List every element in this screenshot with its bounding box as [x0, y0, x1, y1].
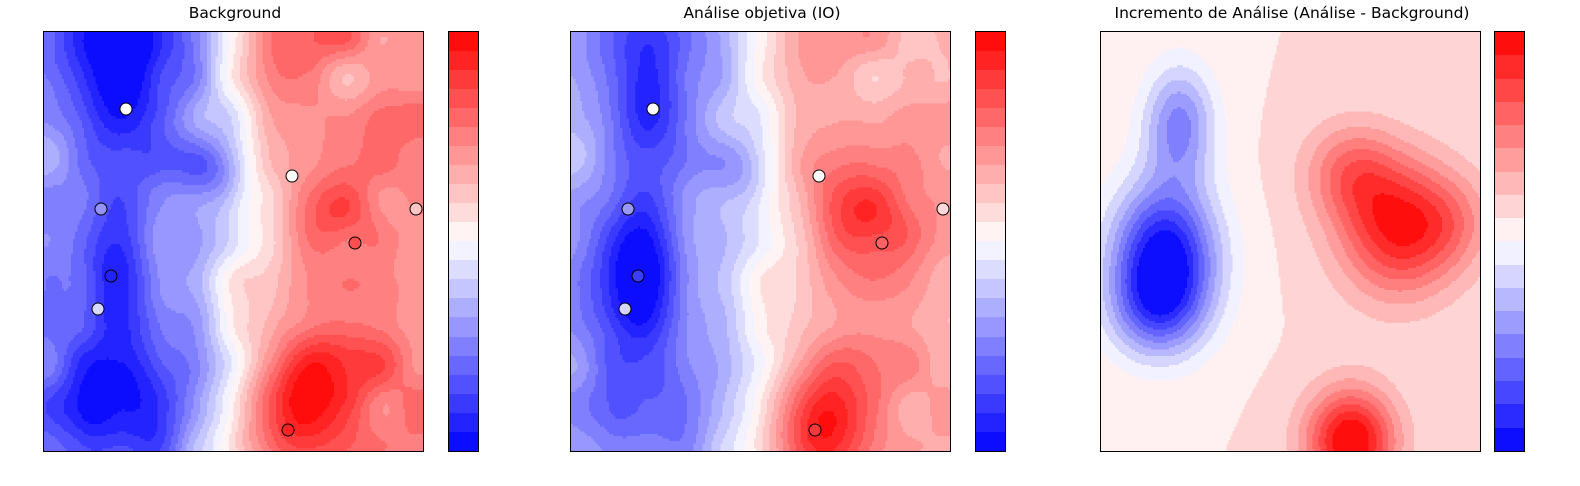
observation-marker: [285, 169, 298, 182]
colorbar-tick-mark: [1005, 185, 1006, 186]
colorbar-tick-mark: [1524, 406, 1525, 407]
ytick-mark: [43, 442, 44, 443]
colorbar-tick-mark: [1524, 125, 1525, 126]
colorbar-tick-mark: [1005, 72, 1006, 73]
xtick-mark: [1351, 451, 1352, 452]
colorbar-tick-mark: [1524, 78, 1525, 79]
observation-marker: [622, 203, 635, 216]
xtick-mark: [700, 451, 701, 452]
ytick-mark: [570, 41, 571, 42]
ytick-mark: [43, 309, 44, 310]
panel-title-increment: Incremento de Análise (Análise - Backgro…: [1057, 4, 1527, 22]
xtick-mark: [1110, 451, 1111, 452]
xtick-mark: [53, 451, 54, 452]
observation-marker: [812, 169, 825, 182]
colorbar-tick-mark: [478, 130, 479, 131]
xtick-mark: [1291, 451, 1292, 452]
ytick-mark: [1100, 41, 1101, 42]
ytick-mark: [570, 309, 571, 310]
ytick-mark: [1100, 376, 1101, 377]
observation-marker: [876, 236, 889, 249]
xtick-mark: [234, 451, 235, 452]
ytick-mark: [570, 442, 571, 443]
colorbar-increment: 1.20.90.60.30.0-0.3-0.6-0.9-1.2-1.5: [1494, 31, 1525, 452]
xtick-mark: [580, 451, 581, 452]
observation-marker: [631, 269, 644, 282]
xtick-mark: [1472, 451, 1473, 452]
observation-marker: [104, 269, 117, 282]
observation-marker: [808, 423, 821, 436]
ytick-mark: [570, 108, 571, 109]
xtick-mark: [1170, 451, 1171, 452]
observation-marker: [119, 102, 132, 115]
colorbar-tick-mark: [1005, 355, 1006, 356]
colorbar-tick-mark: [478, 186, 479, 187]
contour-field-increment: [1101, 32, 1480, 451]
ytick-mark: [570, 242, 571, 243]
colorbar-tick-mark: [1524, 312, 1525, 313]
panel-title-analysis: Análise objetiva (IO): [527, 4, 997, 22]
observation-marker: [95, 203, 108, 216]
xtick-mark: [1230, 451, 1231, 452]
plot-area-background: 3210-1-2-3-3-2-10123: [43, 31, 424, 452]
colorbar-tick-mark: [1524, 359, 1525, 360]
xtick-mark: [942, 451, 943, 452]
colorbar-tick-mark: [478, 74, 479, 75]
colorbar-tick-mark: [478, 298, 479, 299]
colorbar-tick-mark: [1005, 129, 1006, 130]
plot-area-analysis: 3210-1-2-3-3-2-10123: [570, 31, 951, 452]
observation-marker: [281, 423, 294, 436]
ytick-mark: [1100, 108, 1101, 109]
colorbar-tick-mark: [1524, 31, 1525, 32]
contour-field-analysis: [571, 32, 950, 451]
observation-marker: [409, 203, 422, 216]
ytick-mark: [1100, 309, 1101, 310]
xtick-mark: [761, 451, 762, 452]
ytick-mark: [1100, 442, 1101, 443]
colorbar-tick-mark: [1005, 412, 1006, 413]
colorbar-analysis: 2.71.80.90.0-0.9-1.8-2.7: [975, 31, 1006, 452]
xtick-mark: [173, 451, 174, 452]
colorbar-background: 1.81.20.60.0-0.6-1.2-1.8: [448, 31, 479, 452]
xtick-mark: [294, 451, 295, 452]
figure-canvas: Background3210-1-2-3-3-2-101231.81.20.60…: [0, 0, 1580, 486]
colorbar-tick-mark: [1005, 299, 1006, 300]
ytick-mark: [43, 108, 44, 109]
observation-marker: [646, 102, 659, 115]
colorbar-tick-mark: [1524, 172, 1525, 173]
colorbar-tick-mark: [478, 354, 479, 355]
xtick-mark: [113, 451, 114, 452]
xtick-mark: [821, 451, 822, 452]
panel-title-background: Background: [0, 4, 470, 22]
colorbar-tick-mark: [478, 242, 479, 243]
contour-field-background: [44, 32, 423, 451]
ytick-mark: [43, 376, 44, 377]
xtick-mark: [882, 451, 883, 452]
xtick-mark: [640, 451, 641, 452]
ytick-mark: [43, 41, 44, 42]
observation-marker: [349, 236, 362, 249]
colorbar-tick-mark: [478, 410, 479, 411]
ytick-mark: [43, 175, 44, 176]
ytick-mark: [570, 175, 571, 176]
xtick-mark: [415, 451, 416, 452]
observation-marker: [936, 203, 949, 216]
plot-area-increment: 3210-1-2-3-3-2-10123: [1100, 31, 1481, 452]
ytick-mark: [1100, 175, 1101, 176]
colorbar-tick-mark: [1524, 219, 1525, 220]
xtick-mark: [355, 451, 356, 452]
xtick-mark: [1412, 451, 1413, 452]
ytick-mark: [570, 376, 571, 377]
ytick-mark: [1100, 242, 1101, 243]
ytick-mark: [43, 242, 44, 243]
colorbar-tick-mark: [1524, 265, 1525, 266]
observation-marker: [92, 303, 105, 316]
observation-marker: [619, 303, 632, 316]
colorbar-tick-mark: [1005, 242, 1006, 243]
